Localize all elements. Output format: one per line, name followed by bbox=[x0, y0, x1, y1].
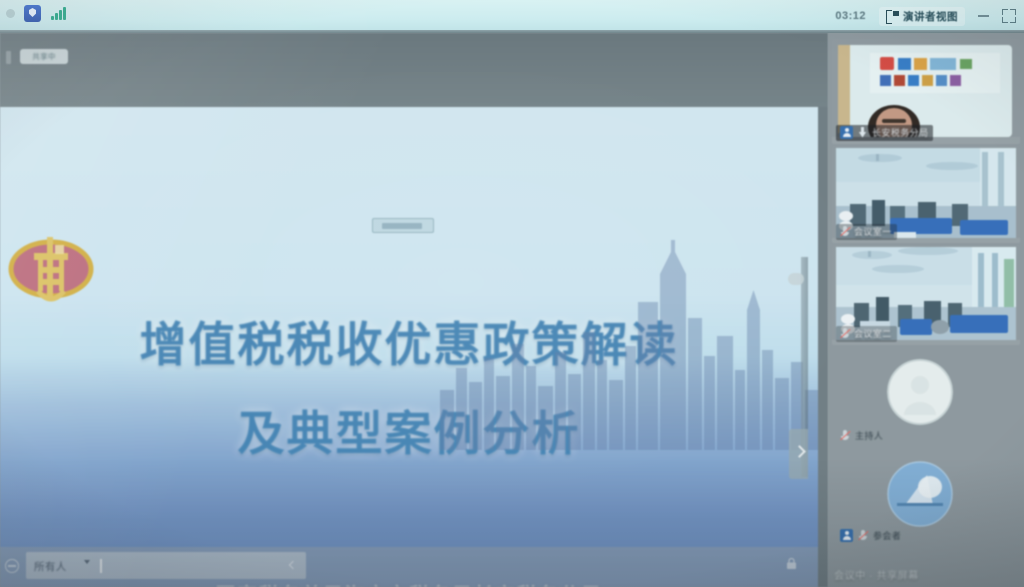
participant-tile[interactable]: 会议室二 bbox=[832, 245, 1020, 345]
app-titlebar: 03:12 演讲者视图 bbox=[0, 0, 1024, 33]
shared-screen-toolbar: 共享中 bbox=[0, 33, 828, 107]
presentation-slide[interactable]: 增值税税收优惠政策解读 及典型案例分析 国家税务总局海宁市税务局长安税务分局 2… bbox=[0, 107, 818, 587]
participant-tile[interactable]: 参会者 bbox=[832, 453, 1020, 563]
china-tax-bureau-emblem bbox=[8, 229, 94, 313]
participant-name: 主持人 bbox=[855, 429, 883, 442]
participant-name: 长安税务分局 bbox=[872, 126, 928, 139]
sharing-status-chip[interactable]: 共享中 bbox=[20, 49, 68, 64]
chat-text-cursor bbox=[100, 559, 102, 573]
participant-name-row: 长安税务分局 bbox=[836, 125, 933, 141]
chat-bar[interactable]: 所有人 bbox=[0, 547, 818, 587]
expand-icon[interactable] bbox=[1002, 9, 1016, 23]
drag-handle-icon[interactable] bbox=[6, 51, 11, 64]
participant-tile[interactable]: 主持人 bbox=[832, 349, 1020, 449]
participant-name: 参会者 bbox=[873, 529, 901, 542]
titlebar-right-controls: 03:12 演讲者视图 bbox=[835, 3, 1016, 29]
mic-icon bbox=[840, 328, 850, 340]
mic-icon bbox=[858, 530, 868, 542]
layout-view-icon bbox=[886, 10, 899, 22]
presentation-control-chip[interactable] bbox=[372, 218, 434, 233]
collapse-right-icon[interactable] bbox=[789, 429, 808, 479]
view-mode-button[interactable]: 演讲者视图 bbox=[879, 7, 965, 26]
signal-strength-icon[interactable] bbox=[50, 6, 69, 22]
shield-icon[interactable] bbox=[24, 5, 41, 22]
titlebar-left-icons bbox=[6, 5, 69, 22]
chevron-icon[interactable] bbox=[289, 561, 297, 569]
chat-input-row[interactable]: 所有人 bbox=[26, 552, 306, 579]
participant-name: 会议室一 bbox=[854, 225, 892, 238]
meeting-timer: 03:12 bbox=[835, 10, 866, 22]
avatar bbox=[887, 359, 953, 425]
participant-name-row: 会议室二 bbox=[836, 326, 897, 342]
window-dot bbox=[6, 9, 15, 18]
participant-name-row: 主持人 bbox=[840, 429, 883, 442]
chat-recipient-label[interactable]: 所有人 bbox=[34, 559, 67, 574]
lock-icon bbox=[787, 558, 796, 569]
view-mode-label: 演讲者视图 bbox=[903, 9, 958, 24]
city-skyline-illustration bbox=[440, 240, 818, 450]
download-icon bbox=[857, 127, 868, 139]
avatar bbox=[887, 461, 953, 527]
shared-screen-stage[interactable]: 共享中 bbox=[0, 33, 828, 587]
participant-rail[interactable]: 长安税务分局 bbox=[828, 33, 1024, 587]
minimize-button[interactable] bbox=[978, 15, 989, 17]
panel-resize-knob[interactable] bbox=[788, 273, 804, 285]
participant-tile[interactable]: 会议室一 bbox=[832, 146, 1020, 243]
sharing-status-label: 共享中 bbox=[32, 51, 55, 62]
person-icon bbox=[840, 529, 853, 542]
mic-icon bbox=[840, 430, 850, 442]
participant-tile[interactable]: 长安税务分局 bbox=[832, 39, 1020, 144]
participant-name-row: 会议室一 bbox=[836, 224, 897, 240]
person-icon bbox=[840, 126, 853, 139]
mic-icon bbox=[840, 226, 850, 238]
participant-name: 会议室二 bbox=[854, 327, 892, 340]
rail-status-text: 会议中 · 共享屏幕 bbox=[834, 567, 919, 582]
participant-name-row: 参会者 bbox=[840, 529, 901, 542]
chevron-down-icon[interactable] bbox=[84, 560, 90, 564]
plus-circle-icon[interactable] bbox=[5, 559, 19, 573]
